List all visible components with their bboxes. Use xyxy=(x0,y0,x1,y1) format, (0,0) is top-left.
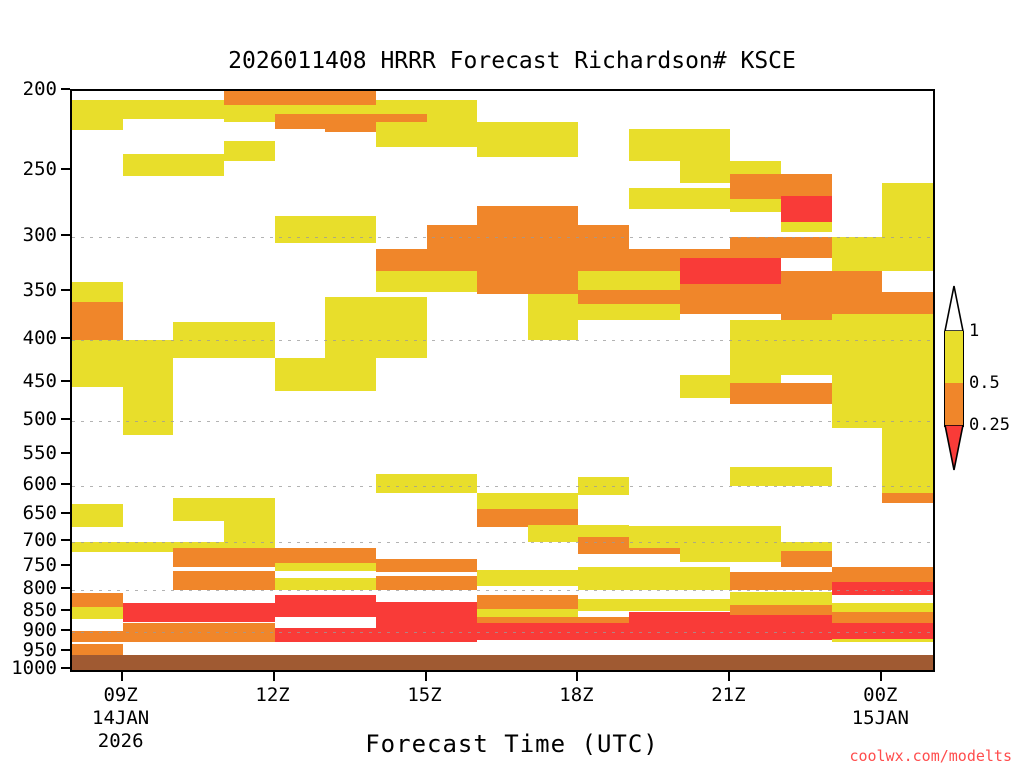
heatmap-cell xyxy=(72,607,123,619)
y-tick-label: 300 xyxy=(23,224,57,246)
heatmap-cell xyxy=(882,209,933,236)
y-tick xyxy=(61,483,70,485)
y-tick xyxy=(61,452,70,454)
heatmap-cell xyxy=(882,428,933,474)
heatmap-cells xyxy=(72,91,933,670)
y-tick xyxy=(61,418,70,420)
heatmap-cell xyxy=(882,474,933,493)
heatmap-cell xyxy=(275,548,376,563)
heatmap-cell xyxy=(477,570,578,586)
heatmap-cell xyxy=(376,271,477,292)
y-tick xyxy=(61,667,70,669)
y-tick xyxy=(61,234,70,236)
x-tick-label: 15Z xyxy=(407,684,441,707)
y-tick-label: 200 xyxy=(23,78,57,100)
heatmap-cell xyxy=(376,576,477,590)
heatmap-cell xyxy=(730,237,831,258)
heatmap-cell xyxy=(376,559,477,572)
heatmap-cell xyxy=(578,567,730,589)
heatmap-cell xyxy=(730,383,831,405)
heatmap-cell xyxy=(275,563,376,572)
heatmap-cell xyxy=(275,358,376,391)
heatmap-cell xyxy=(477,206,578,228)
colorbar-legend: 10.50.25 xyxy=(936,285,1024,490)
y-tick xyxy=(61,609,70,611)
heatmap-cell xyxy=(123,387,174,435)
heatmap-cell xyxy=(325,297,426,357)
heatmap-cell xyxy=(781,551,832,568)
y-tick-label: 250 xyxy=(23,158,57,180)
heatmap-cell xyxy=(224,521,275,542)
heatmap-cell xyxy=(477,129,578,157)
y-tick xyxy=(61,649,70,651)
colorbar-label-0.25: 0.25 xyxy=(969,415,1010,435)
heatmap-cell xyxy=(477,493,578,509)
heatmap-cell xyxy=(72,282,123,303)
x-tick xyxy=(121,672,123,681)
x-tick-label: 21Z xyxy=(711,684,745,707)
heatmap-cell xyxy=(72,119,123,130)
terrain-band xyxy=(72,655,933,670)
heatmap-cell xyxy=(72,631,275,642)
y-tick xyxy=(61,337,70,339)
heatmap-cell xyxy=(578,599,730,611)
heatmap-cell xyxy=(72,593,123,607)
y-tick xyxy=(61,512,70,514)
heatmap-cell xyxy=(72,644,123,655)
page-title: 2026011408 HRRR Forecast Richardson# KSC… xyxy=(0,48,1024,74)
y-tick xyxy=(61,88,70,90)
y-axis: 2002503003504004505005506006507007508008… xyxy=(0,89,70,672)
y-tick-label: 350 xyxy=(23,279,57,301)
heatmap-cell xyxy=(72,340,173,386)
heatmap-cell xyxy=(629,188,730,209)
y-tick-label: 700 xyxy=(23,529,57,551)
y-tick xyxy=(61,587,70,589)
y-tick-label: 800 xyxy=(23,577,57,599)
colorbar-label-0.5: 0.5 xyxy=(969,373,1000,393)
heatmap-cell xyxy=(832,567,933,581)
y-tick xyxy=(61,539,70,541)
heatmap-cell xyxy=(629,129,730,162)
heatmap-cell xyxy=(427,225,630,251)
colorbar-band-0.5-1 xyxy=(944,331,964,383)
heatmap-cell xyxy=(882,183,933,212)
heatmap-cell xyxy=(730,592,831,605)
chart-canvas: 2026011408 HRRR Forecast Richardson# KSC… xyxy=(0,0,1024,768)
heatmap-cell xyxy=(832,603,933,612)
colorbar-label-1: 1 xyxy=(969,321,979,341)
heatmap-cell xyxy=(173,548,274,568)
heatmap-cell xyxy=(528,292,579,340)
heatmap-cell xyxy=(730,605,831,615)
heatmap-cell xyxy=(123,642,933,655)
y-tick xyxy=(61,380,70,382)
y-tick xyxy=(61,629,70,631)
x-tick xyxy=(273,672,275,681)
gridline xyxy=(72,670,933,671)
heatmap-cell xyxy=(832,582,933,596)
heatmap-cell xyxy=(376,474,477,493)
heatmap-cell xyxy=(578,304,679,320)
y-tick-label: 600 xyxy=(23,473,57,495)
heatmap-cell xyxy=(123,154,224,176)
y-tick xyxy=(61,168,70,170)
x-tick xyxy=(425,672,427,681)
heatmap-cell xyxy=(832,292,933,314)
y-tick-label: 850 xyxy=(23,599,57,621)
y-tick-label: 1000 xyxy=(11,657,57,679)
heatmap-cell xyxy=(730,467,831,487)
heatmap-cell xyxy=(730,572,831,590)
heatmap-cell xyxy=(224,91,376,105)
x-tick xyxy=(728,672,730,681)
heatmap-cell xyxy=(578,290,679,304)
heatmap-cell xyxy=(832,314,933,340)
heatmap-cell xyxy=(832,375,933,428)
y-tick-label: 450 xyxy=(23,370,57,392)
colorbar-band-0.25-0.5 xyxy=(944,383,964,425)
heatmap-cell xyxy=(376,249,731,271)
heatmap-cell xyxy=(275,578,376,589)
heatmap-cell xyxy=(72,302,123,340)
heatmap-cell xyxy=(72,542,173,552)
y-tick xyxy=(61,289,70,291)
heatmap-cell xyxy=(781,222,832,232)
colorbar-cap-above-1 xyxy=(944,285,964,331)
y-tick-label: 550 xyxy=(23,442,57,464)
y-tick xyxy=(61,564,70,566)
heatmap-cell xyxy=(72,504,123,527)
y-tick-label: 500 xyxy=(23,408,57,430)
x-tick-label: 12Z xyxy=(255,684,289,707)
heatmap-cell xyxy=(882,493,933,502)
x-tick xyxy=(576,672,578,681)
heatmap-cell xyxy=(173,571,274,589)
heatmap-cell xyxy=(72,100,224,119)
x-tick-label: 18Z xyxy=(559,684,593,707)
colorbar-cap-below-0.25 xyxy=(944,425,964,471)
heatmap-cell xyxy=(730,199,781,212)
heatmap-cell xyxy=(275,595,376,616)
heatmap-cell xyxy=(680,258,781,284)
heatmap-cell xyxy=(781,196,832,222)
x-tick xyxy=(880,672,882,681)
heatmap-cell xyxy=(578,477,629,495)
heatmap-cell xyxy=(477,623,933,640)
heatmap-cell xyxy=(730,340,933,374)
heatmap-cell xyxy=(123,603,275,622)
watermark: coolwx.com/modelts xyxy=(849,747,1012,765)
heatmap-cell xyxy=(578,271,679,290)
x-tick-label: 00Z15JAN xyxy=(852,684,909,730)
y-tick-label: 650 xyxy=(23,502,57,524)
heatmap-cell xyxy=(275,216,376,243)
heatmap-cell xyxy=(832,237,933,271)
heatmap-cell xyxy=(224,141,275,161)
plot-area xyxy=(70,89,935,672)
heatmap-cell xyxy=(173,498,274,520)
y-tick-label: 750 xyxy=(23,554,57,576)
heatmap-cell xyxy=(173,322,274,358)
heatmap-cell xyxy=(477,271,578,294)
y-tick-label: 400 xyxy=(23,327,57,349)
heatmap-cell xyxy=(477,595,578,609)
heatmap-cell xyxy=(275,628,478,642)
